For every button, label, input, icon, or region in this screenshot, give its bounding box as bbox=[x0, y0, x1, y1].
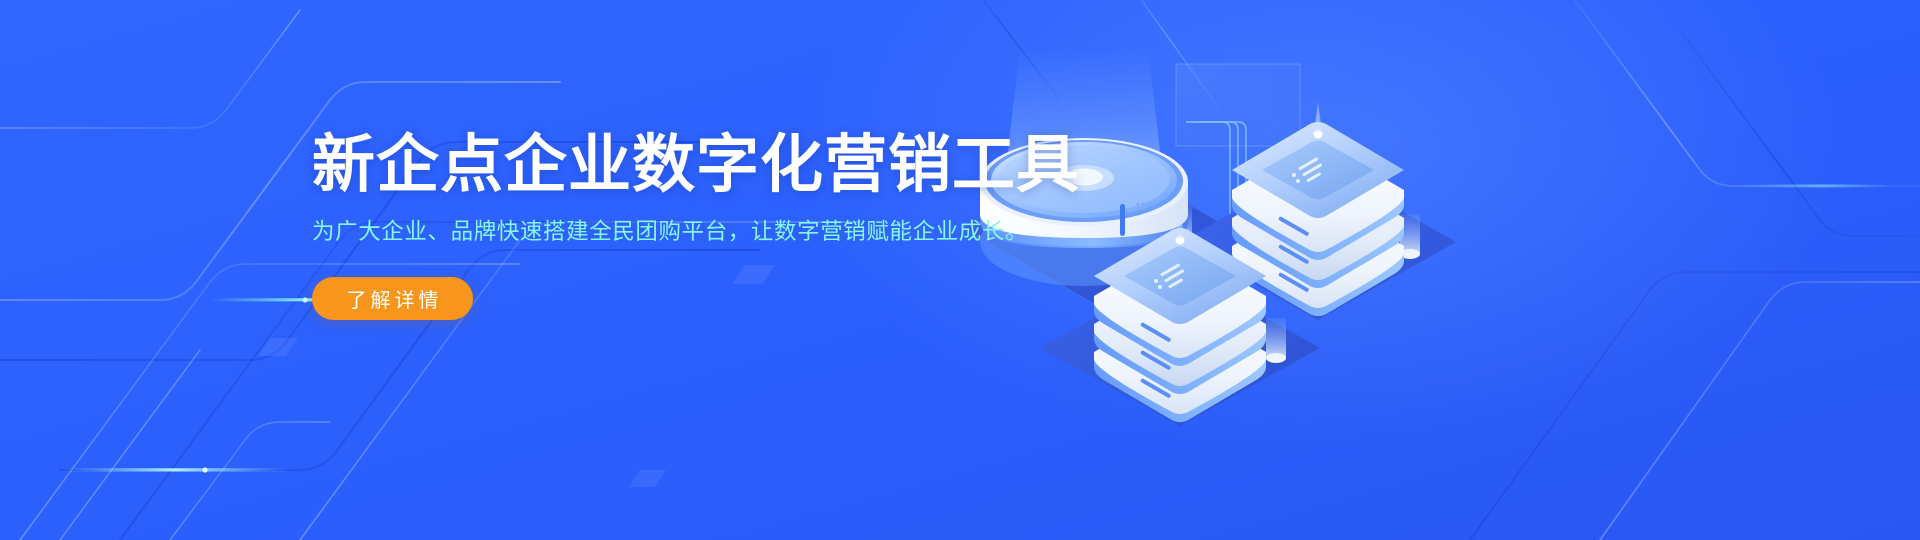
learn-more-button[interactable]: 了解详情 bbox=[312, 277, 473, 320]
page-title: 新企点企业数字化营销工具 bbox=[312, 132, 1012, 199]
pad-pillar-lower bbox=[1266, 318, 1286, 363]
hero-subtitle: 为广大企业、品牌快速搭建全民团购平台，让数字营销赋能企业成长。 bbox=[312, 217, 1012, 247]
hero-copy: 新企点企业数字化营销工具 为广大企业、品牌快速搭建全民团购平台，让数字营销赋能企… bbox=[312, 132, 1012, 320]
hero-banner: 新企点企业数字化营销工具 为广大企业、品牌快速搭建全民团购平台，让数字营销赋能企… bbox=[0, 0, 1920, 540]
